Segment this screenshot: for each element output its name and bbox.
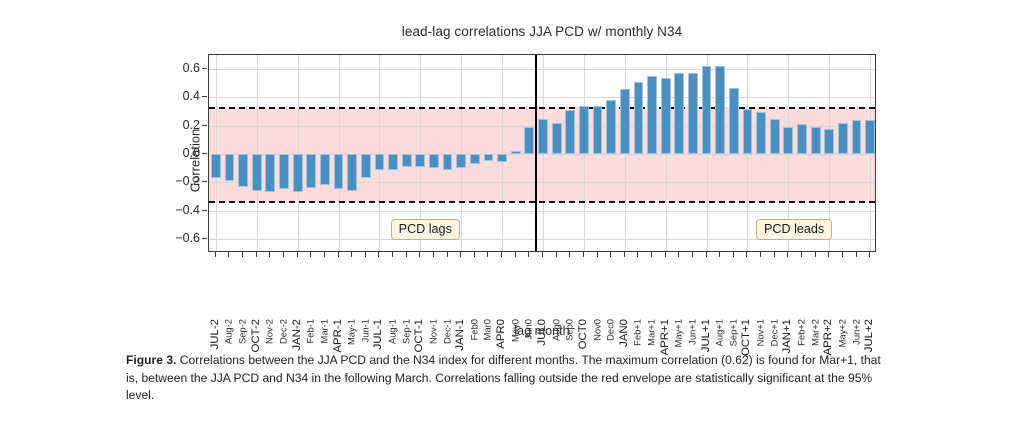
- y-tick-label: −0.4: [156, 203, 200, 217]
- gridline-vertical: [339, 55, 340, 251]
- bar: [865, 120, 875, 154]
- x-tick-mark: [447, 252, 448, 257]
- x-tick-mark: [487, 252, 488, 257]
- x-tick-mark: [283, 252, 284, 257]
- x-tick-mark: [692, 252, 693, 257]
- bar: [470, 154, 480, 164]
- x-tick-mark: [610, 252, 611, 257]
- bar: [211, 154, 221, 178]
- bar: [252, 154, 262, 191]
- x-tick-mark: [569, 252, 570, 257]
- x-tick-mark: [228, 252, 229, 257]
- x-tick-mark: [828, 252, 829, 257]
- caption-text: Correlations between the JJA PCD and the…: [126, 353, 881, 402]
- x-tick-mark: [406, 252, 407, 257]
- bar: [838, 123, 848, 154]
- bar: [293, 154, 303, 192]
- lag-lead-divider: [535, 55, 537, 251]
- y-tick-label: 0.6: [156, 61, 200, 75]
- x-tick-mark: [842, 252, 843, 257]
- x-tick-mark: [460, 252, 461, 257]
- gridline-vertical: [298, 55, 299, 251]
- x-tick-mark: [556, 252, 557, 257]
- y-tick-mark: [202, 153, 207, 154]
- gridline-horizontal: [209, 69, 875, 70]
- x-tick-mark: [542, 252, 543, 257]
- chart-title: lead-lag correlations JJA PCD w/ monthly…: [208, 24, 876, 39]
- bar: [402, 154, 412, 167]
- bar: [702, 66, 712, 154]
- figure-caption: Figure 3. Correlations between the JJA P…: [126, 352, 886, 405]
- bar: [729, 88, 739, 154]
- bar: [265, 154, 275, 192]
- bar: [306, 154, 316, 188]
- x-tick-mark: [583, 252, 584, 257]
- x-tick-mark: [392, 252, 393, 257]
- y-tick-mark: [202, 68, 207, 69]
- bar: [579, 106, 589, 154]
- x-tick-mark: [338, 252, 339, 257]
- y-tick-label: 0.4: [156, 89, 200, 103]
- y-tick-label: 0.2: [156, 118, 200, 132]
- chart-figure: lead-lag correlations JJA PCD w/ monthly…: [0, 0, 1024, 340]
- bar: [756, 112, 766, 154]
- x-tick-mark: [624, 252, 625, 257]
- bar: [688, 73, 698, 154]
- x-tick-mark: [678, 252, 679, 257]
- bar: [661, 78, 671, 154]
- bar: [484, 154, 494, 161]
- bar: [620, 89, 630, 154]
- y-tick-label: 0.0: [156, 146, 200, 160]
- x-tick-mark: [474, 252, 475, 257]
- gridline-horizontal: [209, 97, 875, 98]
- x-tick-mark: [746, 252, 747, 257]
- x-tick-mark: [365, 252, 366, 257]
- caption-label: Figure 3.: [126, 353, 176, 367]
- bar: [770, 119, 780, 154]
- x-tick-mark: [351, 252, 352, 257]
- significance-line: [209, 201, 875, 203]
- x-tick-mark: [637, 252, 638, 257]
- bar: [852, 120, 862, 154]
- x-tick-mark: [501, 252, 502, 257]
- significance-line: [209, 107, 875, 109]
- x-tick-mark: [706, 252, 707, 257]
- bar: [497, 154, 507, 162]
- x-tick-mark: [297, 252, 298, 257]
- bar: [524, 127, 534, 154]
- x-tick-mark: [419, 252, 420, 257]
- bar: [593, 106, 603, 154]
- y-tick-mark: [202, 210, 207, 211]
- x-tick-mark: [256, 252, 257, 257]
- x-tick-mark: [651, 252, 652, 257]
- bar: [715, 66, 725, 154]
- bar: [415, 154, 425, 167]
- x-tick-mark: [869, 252, 870, 257]
- x-tick-mark: [719, 252, 720, 257]
- bar: [388, 154, 398, 170]
- x-tick-mark: [815, 252, 816, 257]
- figure-page: lead-lag correlations JJA PCD w/ monthly…: [0, 0, 1024, 424]
- gridline-vertical: [379, 55, 380, 251]
- bar: [783, 127, 793, 154]
- bar: [279, 154, 289, 189]
- bar: [824, 129, 834, 154]
- x-tick-mark: [665, 252, 666, 257]
- bar: [456, 154, 466, 168]
- y-tick-mark: [202, 125, 207, 126]
- y-axis: Correlation 0.60.40.20.0−0.2−0.4−0.6: [152, 0, 200, 340]
- x-tick-mark: [774, 252, 775, 257]
- bar: [361, 154, 371, 178]
- y-tick-mark: [202, 238, 207, 239]
- y-tick-label: −0.2: [156, 174, 200, 188]
- gridline-vertical: [461, 55, 462, 251]
- x-tick-mark: [324, 252, 325, 257]
- bar: [743, 109, 753, 154]
- bar: [797, 124, 807, 154]
- bar: [674, 73, 684, 154]
- x-tick-mark: [760, 252, 761, 257]
- y-tick-mark: [202, 96, 207, 97]
- bar: [647, 76, 657, 154]
- y-tick-mark: [202, 181, 207, 182]
- x-axis-label: lag month: [208, 324, 876, 338]
- x-tick-mark: [310, 252, 311, 257]
- x-tick-mark: [856, 252, 857, 257]
- x-tick-mark: [787, 252, 788, 257]
- gridline-vertical: [502, 55, 503, 251]
- gridline-horizontal: [209, 211, 875, 212]
- x-axis-tick-labels: JUL-2Aug-2Sep-2OCT-2Nov-2Dec-2JAN-2Feb-1…: [208, 259, 876, 321]
- x-tick-mark: [733, 252, 734, 257]
- bar: [511, 151, 521, 154]
- bar: [347, 154, 357, 191]
- bar: [443, 154, 453, 170]
- bar: [225, 154, 235, 181]
- annotation-pcd-lags: PCD lags: [391, 219, 460, 240]
- x-tick-mark: [242, 252, 243, 257]
- x-tick-mark: [528, 252, 529, 257]
- bar: [429, 154, 439, 168]
- bar: [552, 123, 562, 154]
- bar: [634, 82, 644, 154]
- bar: [538, 119, 548, 154]
- bar: [606, 100, 616, 154]
- x-tick-mark: [269, 252, 270, 257]
- gridline-vertical: [216, 55, 217, 251]
- x-tick-mark: [215, 252, 216, 257]
- bar: [334, 154, 344, 189]
- annotation-pcd-leads: PCD leads: [756, 219, 832, 240]
- gridline-vertical: [257, 55, 258, 251]
- y-tick-label: −0.6: [156, 231, 200, 245]
- x-tick-mark: [433, 252, 434, 257]
- bar: [811, 127, 821, 154]
- x-tick-mark: [515, 252, 516, 257]
- bar: [375, 154, 385, 170]
- x-tick-mark: [597, 252, 598, 257]
- x-tick-mark: [378, 252, 379, 257]
- bar: [320, 154, 330, 185]
- bar: [565, 110, 575, 154]
- x-tick-mark: [801, 252, 802, 257]
- bar: [238, 154, 248, 187]
